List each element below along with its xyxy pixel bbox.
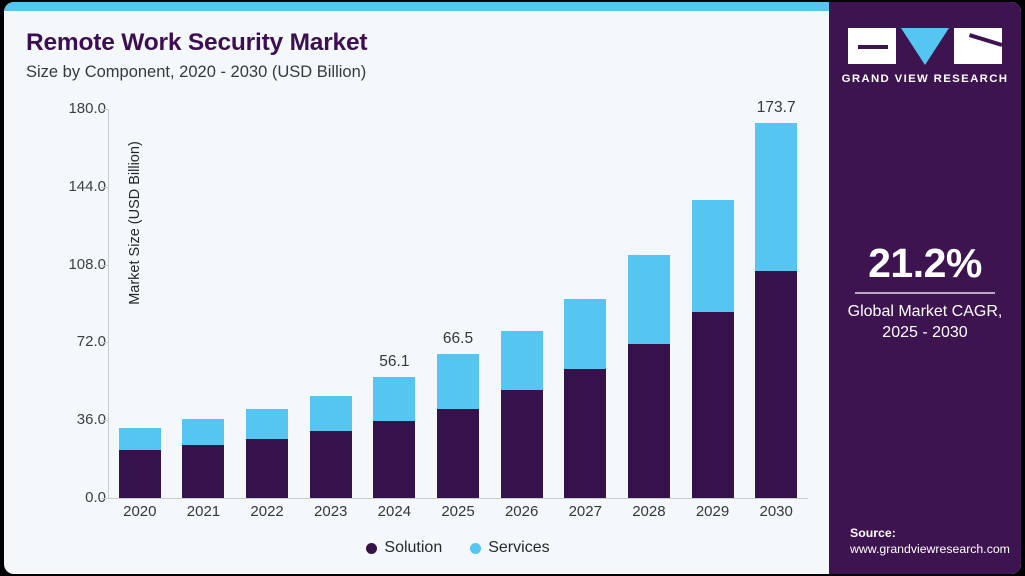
x-tick-label: 2020 <box>110 503 170 520</box>
letter-v-icon <box>901 28 949 65</box>
screenshot-frame: Remote Work Security Market Size by Comp… <box>0 0 1025 576</box>
x-tick-label: 2021 <box>173 503 233 520</box>
legend-label: Services <box>488 539 549 557</box>
x-tick-label: 2026 <box>492 503 552 520</box>
y-tick-mark <box>101 420 108 421</box>
cagr-caption-line1: Global Market CAGR, <box>829 301 1021 322</box>
logo-marks <box>829 28 1021 65</box>
brand-panel: GRAND VIEW RESEARCH 21.2% Global Market … <box>829 2 1021 574</box>
y-tick-label: 180.0 <box>36 100 106 117</box>
source-block: Source: www.grandviewresearch.com <box>850 526 1020 556</box>
bar-segment-solution[interactable] <box>246 439 288 498</box>
bar-segment-solution[interactable] <box>310 431 352 498</box>
chart-area: Remote Work Security Market Size by Comp… <box>4 11 824 574</box>
y-tick-label: 144.0 <box>36 178 106 195</box>
legend-swatch-icon <box>470 543 481 554</box>
bar-segment-services[interactable] <box>310 396 352 431</box>
cagr-divider <box>855 292 995 294</box>
bar-segment-services[interactable] <box>119 428 161 451</box>
page-subtitle: Size by Component, 2020 - 2030 (USD Bill… <box>26 63 366 82</box>
y-tick-mark <box>101 109 108 110</box>
bar-segment-services[interactable] <box>564 299 606 369</box>
x-tick-label: 2029 <box>683 503 743 520</box>
plot-region: Market Size (USD Billion) 0.036.072.0108… <box>108 99 808 499</box>
bar-segment-services[interactable] <box>501 331 543 390</box>
x-tick-label: 2028 <box>619 503 679 520</box>
x-tick-label: 2023 <box>301 503 361 520</box>
legend-item[interactable]: Services <box>470 539 549 557</box>
x-tick-label: 2025 <box>428 503 488 520</box>
bar-group[interactable] <box>310 396 352 498</box>
bar-value-label: 173.7 <box>757 99 796 117</box>
bar-segment-solution[interactable] <box>564 369 606 498</box>
top-accent-bar <box>4 2 829 11</box>
y-tick-label: 36.0 <box>36 411 106 428</box>
source-heading: Source: <box>850 526 1020 540</box>
bar-group[interactable] <box>501 331 543 498</box>
legend-label: Solution <box>384 539 442 557</box>
letter-g-icon <box>848 28 896 64</box>
bar-group[interactable] <box>692 200 734 498</box>
chart-card: Remote Work Security Market Size by Comp… <box>4 2 1021 574</box>
bar-group[interactable] <box>564 299 606 498</box>
bar-segment-services[interactable] <box>437 354 479 409</box>
bar-segment-services[interactable] <box>182 419 224 445</box>
cagr-caption-line2: 2025 - 2030 <box>829 322 1021 343</box>
letter-r-icon <box>954 28 1002 64</box>
y-tick-label: 0.0 <box>36 489 106 506</box>
bar-series-group: 56.166.5173.7 <box>108 99 808 498</box>
bar-group[interactable]: 173.7 <box>755 123 797 498</box>
x-tick-label: 2024 <box>364 503 424 520</box>
chart-legend: SolutionServices <box>108 539 808 557</box>
legend-item[interactable]: Solution <box>366 539 442 557</box>
bar-group[interactable] <box>246 409 288 498</box>
y-tick-mark <box>101 187 108 188</box>
bar-segment-services[interactable] <box>246 409 288 439</box>
y-tick-label: 108.0 <box>36 256 106 273</box>
bar-segment-solution[interactable] <box>628 344 670 498</box>
bar-group[interactable] <box>628 255 670 498</box>
source-url: www.grandviewresearch.com <box>850 542 1020 556</box>
x-tick-label: 2030 <box>746 503 806 520</box>
bar-segment-solution[interactable] <box>755 271 797 498</box>
y-tick-mark <box>101 498 108 499</box>
bar-group[interactable]: 56.1 <box>373 377 415 498</box>
x-tick-label: 2022 <box>237 503 297 520</box>
cagr-block: 21.2% Global Market CAGR, 2025 - 2030 <box>829 240 1021 343</box>
bar-segment-solution[interactable] <box>373 421 415 498</box>
bar-segment-services[interactable] <box>692 200 734 312</box>
bar-segment-services[interactable] <box>628 255 670 344</box>
cagr-value: 21.2% <box>829 240 1021 287</box>
page-title: Remote Work Security Market <box>26 29 367 57</box>
bar-segment-solution[interactable] <box>501 390 543 498</box>
x-tick-label: 2027 <box>555 503 615 520</box>
bar-segment-solution[interactable] <box>692 312 734 498</box>
x-axis-line <box>108 498 808 499</box>
y-tick-mark <box>101 342 108 343</box>
bar-group[interactable]: 66.5 <box>437 354 479 498</box>
bar-segment-solution[interactable] <box>119 450 161 498</box>
bar-group[interactable] <box>182 419 224 498</box>
gvr-logo: GRAND VIEW RESEARCH <box>829 28 1021 85</box>
bar-value-label: 56.1 <box>379 353 409 371</box>
legend-swatch-icon <box>366 543 377 554</box>
bar-value-label: 66.5 <box>443 330 473 348</box>
bar-segment-solution[interactable] <box>437 409 479 498</box>
logo-wordmark: GRAND VIEW RESEARCH <box>829 73 1021 85</box>
bar-segment-services[interactable] <box>755 123 797 271</box>
y-tick-label: 72.0 <box>36 333 106 350</box>
bar-segment-services[interactable] <box>373 377 415 421</box>
bar-segment-solution[interactable] <box>182 445 224 498</box>
y-tick-mark <box>101 265 108 266</box>
bar-group[interactable] <box>119 428 161 498</box>
